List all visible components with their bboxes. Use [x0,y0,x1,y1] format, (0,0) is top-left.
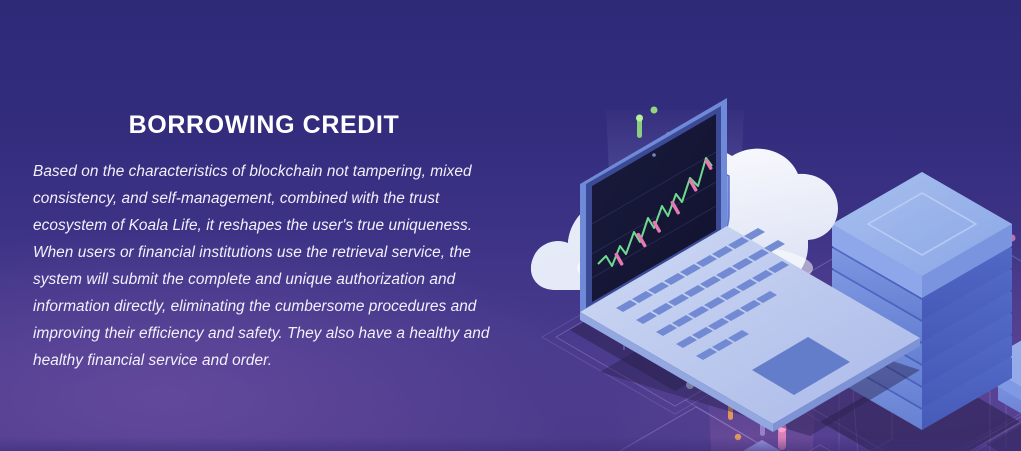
body-paragraph: Based on the characteristics of blockcha… [33,158,504,374]
page-title: BORROWING CREDIT [24,112,504,140]
illustration [520,40,1021,451]
text-column: BORROWING CREDIT Based on the characteri… [24,112,504,374]
body-text: Based on the characteristics of blockcha… [24,158,504,374]
hero-section: BORROWING CREDIT Based on the characteri… [0,0,1021,451]
